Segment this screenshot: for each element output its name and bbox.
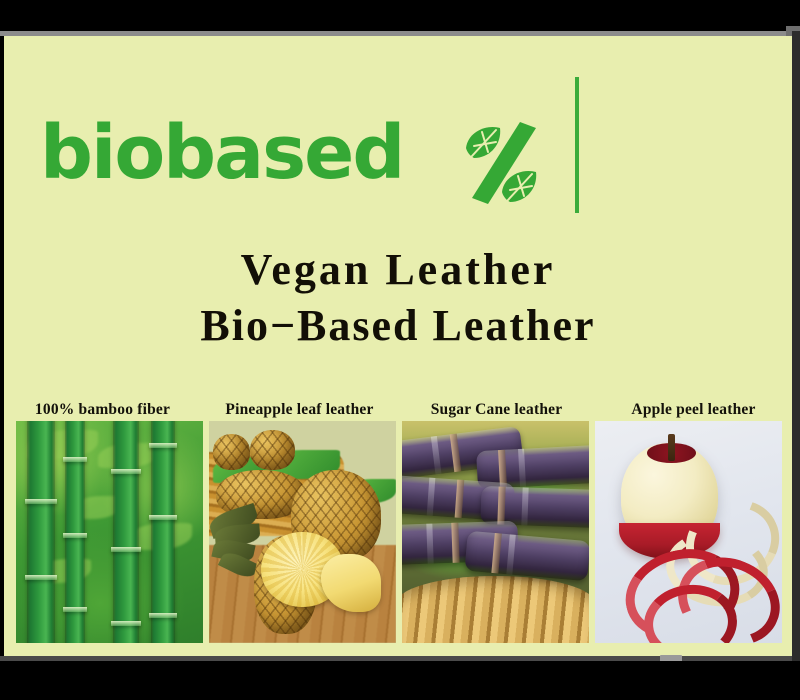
viewer-bottom-chrome: [0, 661, 800, 700]
image-viewer: biobased: [0, 0, 800, 700]
logo-divider: [575, 77, 579, 213]
viewer-top-chrome: [0, 0, 800, 31]
page-title: Vegan Leather Bio−Based Leather: [4, 242, 792, 354]
viewer-right-edge: [792, 31, 800, 661]
poster-image: biobased: [4, 36, 792, 656]
logo-wordmark: biobased: [40, 116, 403, 190]
brand-logo: biobased: [40, 56, 640, 216]
leaf-percent-icon: [452, 118, 562, 208]
title-line-2: Bio−Based Leather: [4, 298, 792, 354]
apple-peel-photo: [595, 421, 782, 643]
bamboo-photo: [16, 421, 203, 643]
title-line-1: Vegan Leather: [4, 242, 792, 298]
pineapple-photo: [209, 421, 396, 643]
photo-row: [16, 421, 782, 643]
sugar-cane-photo: [402, 421, 589, 643]
